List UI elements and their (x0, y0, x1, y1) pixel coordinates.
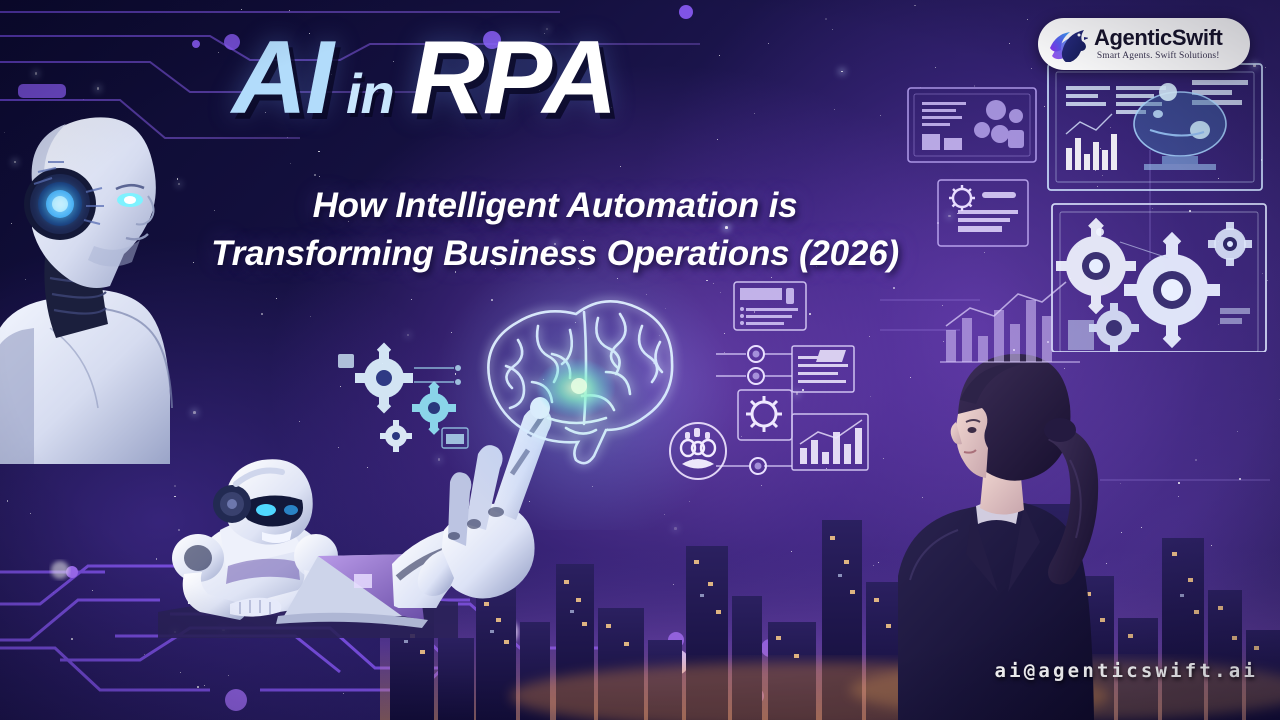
analytics-bar-chart-panel (940, 256, 1120, 366)
robot-typing-on-laptop (158, 388, 458, 638)
logo-name: AgenticSwift (1094, 27, 1222, 49)
contact-email[interactable]: ai@agenticswift.ai (994, 660, 1258, 682)
title-part-rpa: RPA (410, 26, 616, 130)
robot-hand-pointing (392, 378, 572, 608)
swift-bird-icon (1048, 26, 1088, 62)
page-title: AI in RPA (232, 26, 812, 142)
hero-banner: AgenticSwift Smart Agents. Swift Solutio… (0, 0, 1280, 720)
subtitle-line-1: How Intelligent Automation is (313, 186, 798, 225)
logo-tagline: Smart Agents. Swift Solutions! (1094, 52, 1222, 62)
title-part-ai: AI (232, 26, 332, 130)
page-subtitle: How Intelligent Automation is Transformi… (150, 182, 960, 279)
subtitle-line-2: Transforming Business Operations (2026) (150, 230, 960, 278)
holographic-ui-cards (716, 272, 906, 502)
brain-glow (420, 250, 760, 530)
night-city-skyline (380, 490, 1280, 720)
robot-head-circular-badge (664, 418, 732, 484)
title-part-in: in (346, 66, 394, 122)
humanoid-robot-head-profile (0, 96, 205, 466)
floating-gear-cluster (336, 336, 476, 456)
glowing-ai-brain-outline (448, 286, 708, 476)
brand-logo[interactable]: AgenticSwift Smart Agents. Swift Solutio… (1038, 18, 1250, 70)
